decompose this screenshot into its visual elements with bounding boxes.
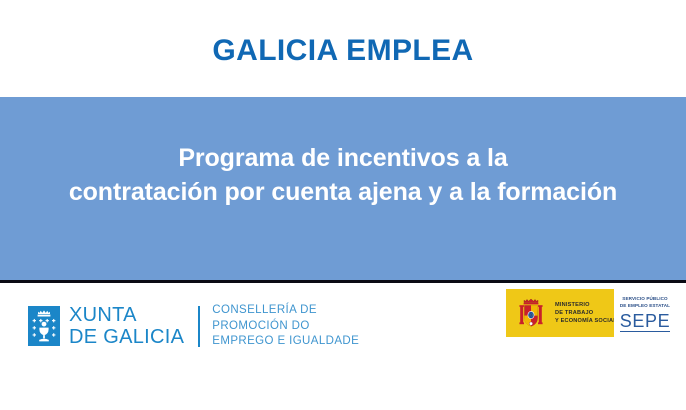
conselleria-wordmark: CONSELLERÍA DE PROMOCIÓN DO EMPREGO E IG… [212, 303, 359, 350]
spain-coat-of-arms-icon [512, 294, 550, 332]
government-logos: MINISTERIO DE TRABAJO Y ECONOMÍA SOCIAL … [506, 289, 676, 337]
footer-logos: XUNTA DE GALICIA CONSELLERÍA DE PROMOCIÓ… [0, 283, 686, 407]
conselleria-line-1: CONSELLERÍA DE [212, 303, 359, 319]
xunta-de-galicia-logo: XUNTA DE GALICIA CONSELLERÍA DE PROMOCIÓ… [28, 303, 359, 350]
xunta-wordmark-line-2: DE GALICIA [69, 326, 184, 348]
ministerio-wordmark: MINISTERIO DE TRABAJO Y ECONOMÍA SOCIAL [555, 301, 617, 325]
conselleria-line-2: PROMOCIÓN DO [212, 319, 359, 335]
banner-line-2: contratación por cuenta ajena y a la for… [69, 175, 617, 209]
sepe-logo: SERVICIO PÚBLICO DE EMPLEO ESTATAL SEPE [614, 289, 676, 337]
sepe-subtitle-line-2: DE EMPLEO ESTATAL [620, 303, 670, 310]
ministerio-de-trabajo-logo: MINISTERIO DE TRABAJO Y ECONOMÍA SOCIAL [506, 289, 614, 337]
lockup-divider [198, 306, 200, 347]
galicia-coat-of-arms-icon [28, 306, 60, 346]
ministerio-line-1: MINISTERIO [555, 301, 617, 309]
banner-line-1: Programa de incentivos a la [69, 141, 617, 175]
conselleria-line-3: EMPREGO E IGUALDADE [212, 334, 359, 350]
title-area: GALICIA EMPLEA [0, 0, 686, 97]
sepe-subtitle-line-1: SERVICIO PÚBLICO [620, 296, 670, 303]
banner-text: Programa de incentivos a la contratación… [69, 141, 617, 237]
sepe-wordmark: SEPE [620, 312, 670, 332]
program-banner: Programa de incentivos a la contratación… [0, 97, 686, 283]
xunta-wordmark: XUNTA DE GALICIA [69, 304, 184, 349]
xunta-wordmark-line-1: XUNTA [69, 304, 184, 326]
ministerio-line-2: DE TRABAJO [555, 309, 617, 317]
ministerio-line-3: Y ECONOMÍA SOCIAL [555, 317, 617, 325]
page-title: GALICIA EMPLEA [212, 32, 473, 66]
sepe-subtitle: SERVICIO PÚBLICO DE EMPLEO ESTATAL [620, 296, 670, 310]
